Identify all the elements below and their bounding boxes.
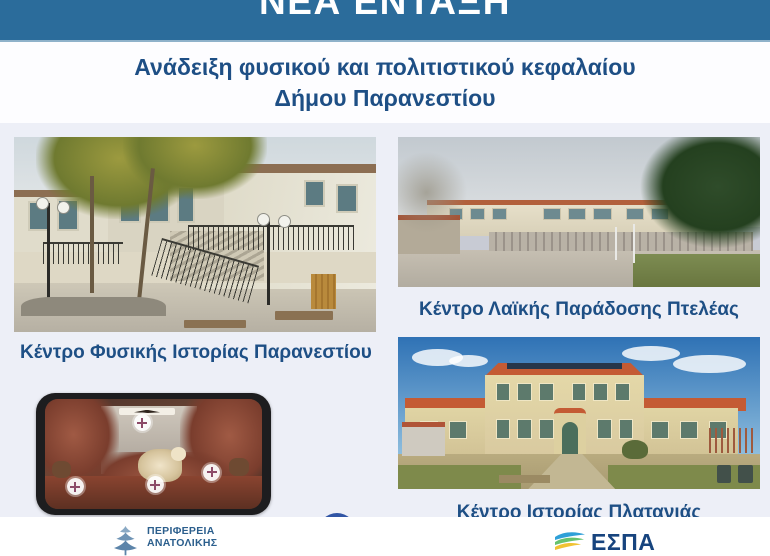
espa-logo-label: ΕΣΠΑ bbox=[591, 530, 655, 554]
subtitle-line-2: Δήμου Παρανεστίου bbox=[274, 83, 495, 114]
ar-hotspot[interactable] bbox=[147, 476, 164, 493]
photo3-gazebo bbox=[402, 422, 445, 455]
photo1-street-lamp-pole bbox=[267, 219, 270, 305]
photo1-tree-trunk bbox=[90, 176, 94, 293]
photo3-solar-panels bbox=[507, 363, 623, 369]
photo3-window bbox=[572, 383, 586, 401]
photo2-cedar-tree bbox=[637, 137, 760, 251]
photo3-window bbox=[517, 383, 531, 401]
photo3-window bbox=[539, 383, 553, 401]
region-logo-line-1: ΠΕΡΙΦΕΡΕΙΑ bbox=[147, 525, 217, 537]
region-logo: ΠΕΡΙΦΕΡΕΙΑ ΑΝΑΤΟΛΙΚΗΣ bbox=[112, 525, 217, 556]
photo-history-platania bbox=[398, 337, 760, 489]
photo3-window bbox=[619, 419, 633, 439]
page-title: ΝΕΑ ΕΝΤΑΞΗ bbox=[0, 0, 770, 22]
photo-natural-history-paranesti bbox=[14, 137, 376, 332]
photo1-bench bbox=[275, 311, 333, 321]
phone-device bbox=[36, 393, 271, 515]
photo1-railing bbox=[43, 242, 123, 263]
header-band: ΝΕΑ ΕΝΤΑΞΗ bbox=[0, 0, 770, 40]
subtitle-line-1: Ανάδειξη φυσικού και πολιτιστικού κεφαλα… bbox=[134, 52, 635, 83]
photo3-window bbox=[651, 421, 669, 439]
photo2-window bbox=[492, 208, 506, 220]
left-column: Κέντρο Φυσικής Ιστορίας Παρανεστίου bbox=[14, 137, 376, 364]
subtitle-area: Ανάδειξη φυσικού και πολιτιστικού κεφαλα… bbox=[0, 42, 770, 123]
photo2-window bbox=[593, 208, 611, 220]
diorama-deer bbox=[52, 461, 72, 479]
diorama-bear-head bbox=[171, 447, 186, 460]
photo3-window bbox=[496, 419, 510, 439]
photo1-railing bbox=[188, 225, 355, 250]
photo3-fence bbox=[709, 428, 752, 452]
photo3-window bbox=[539, 419, 553, 439]
photo3-window bbox=[449, 421, 467, 439]
photo1-planter bbox=[21, 297, 166, 317]
photo1-street-lamp-globe bbox=[257, 213, 270, 226]
caption-natural-history-paranesti: Κέντρο Φυσικής Ιστορίας Παρανεστίου bbox=[14, 342, 376, 364]
photo1-window bbox=[304, 180, 326, 207]
photo3-window bbox=[597, 419, 611, 439]
photo3-shrub bbox=[622, 440, 647, 458]
region-logo-text: ΠΕΡΙΦΕΡΕΙΑ ΑΝΑΤΟΛΙΚΗΣ bbox=[147, 525, 217, 549]
photo3-grass bbox=[608, 465, 760, 489]
photo2-bare-tree bbox=[398, 149, 470, 236]
photo1-window bbox=[336, 184, 358, 213]
photo1-bench bbox=[184, 320, 246, 328]
photo3-entrance-door bbox=[562, 422, 578, 454]
caption-folk-tradition-ptelea: Κέντρο Λαϊκής Παράδοσης Πτελέας bbox=[398, 299, 760, 321]
photo1-wooden-door bbox=[311, 274, 336, 309]
phone-screen bbox=[45, 399, 262, 509]
photo3-bench bbox=[499, 475, 550, 483]
photo3-window bbox=[496, 383, 510, 401]
region-logo-line-2: ΑΝΑΤΟΛΙΚΗΣ bbox=[147, 537, 217, 549]
ar-hotspot[interactable] bbox=[67, 478, 84, 495]
right-column: Κέντρο Λαϊκής Παράδοσης Πτελέας bbox=[398, 137, 760, 524]
photo1-street-lamp-pole bbox=[47, 203, 50, 304]
photo2-window bbox=[470, 208, 484, 220]
photo-folk-tradition-ptelea bbox=[398, 137, 760, 287]
photo2-window bbox=[568, 208, 586, 220]
photo2-window bbox=[543, 208, 561, 220]
photo3-window bbox=[615, 383, 629, 401]
diorama-deer bbox=[229, 458, 249, 476]
photo2-lamp-post bbox=[615, 227, 617, 260]
footer: ΠΕΡΙΦΕΡΕΙΑ ΑΝΑΤΟΛΙΚΗΣ ΕΣΠΑ bbox=[0, 517, 770, 556]
espa-logo: ΕΣΠΑ bbox=[553, 529, 655, 555]
phone-mockup-block bbox=[28, 391, 390, 517]
photo3-trash-bin bbox=[717, 465, 731, 483]
photo3-window bbox=[680, 421, 698, 439]
region-emblem-icon bbox=[112, 525, 139, 556]
photo1-tree bbox=[123, 137, 268, 199]
photo3-trash-bin bbox=[738, 465, 752, 483]
photo2-lawn bbox=[633, 254, 760, 287]
photo3-window bbox=[517, 419, 531, 439]
photo3-window bbox=[593, 383, 607, 401]
content-panel: Κέντρο Φυσικής Ιστορίας Παρανεστίου bbox=[0, 123, 770, 517]
espa-swoosh-icon bbox=[553, 529, 587, 555]
photo2-lamp-post bbox=[633, 224, 635, 263]
